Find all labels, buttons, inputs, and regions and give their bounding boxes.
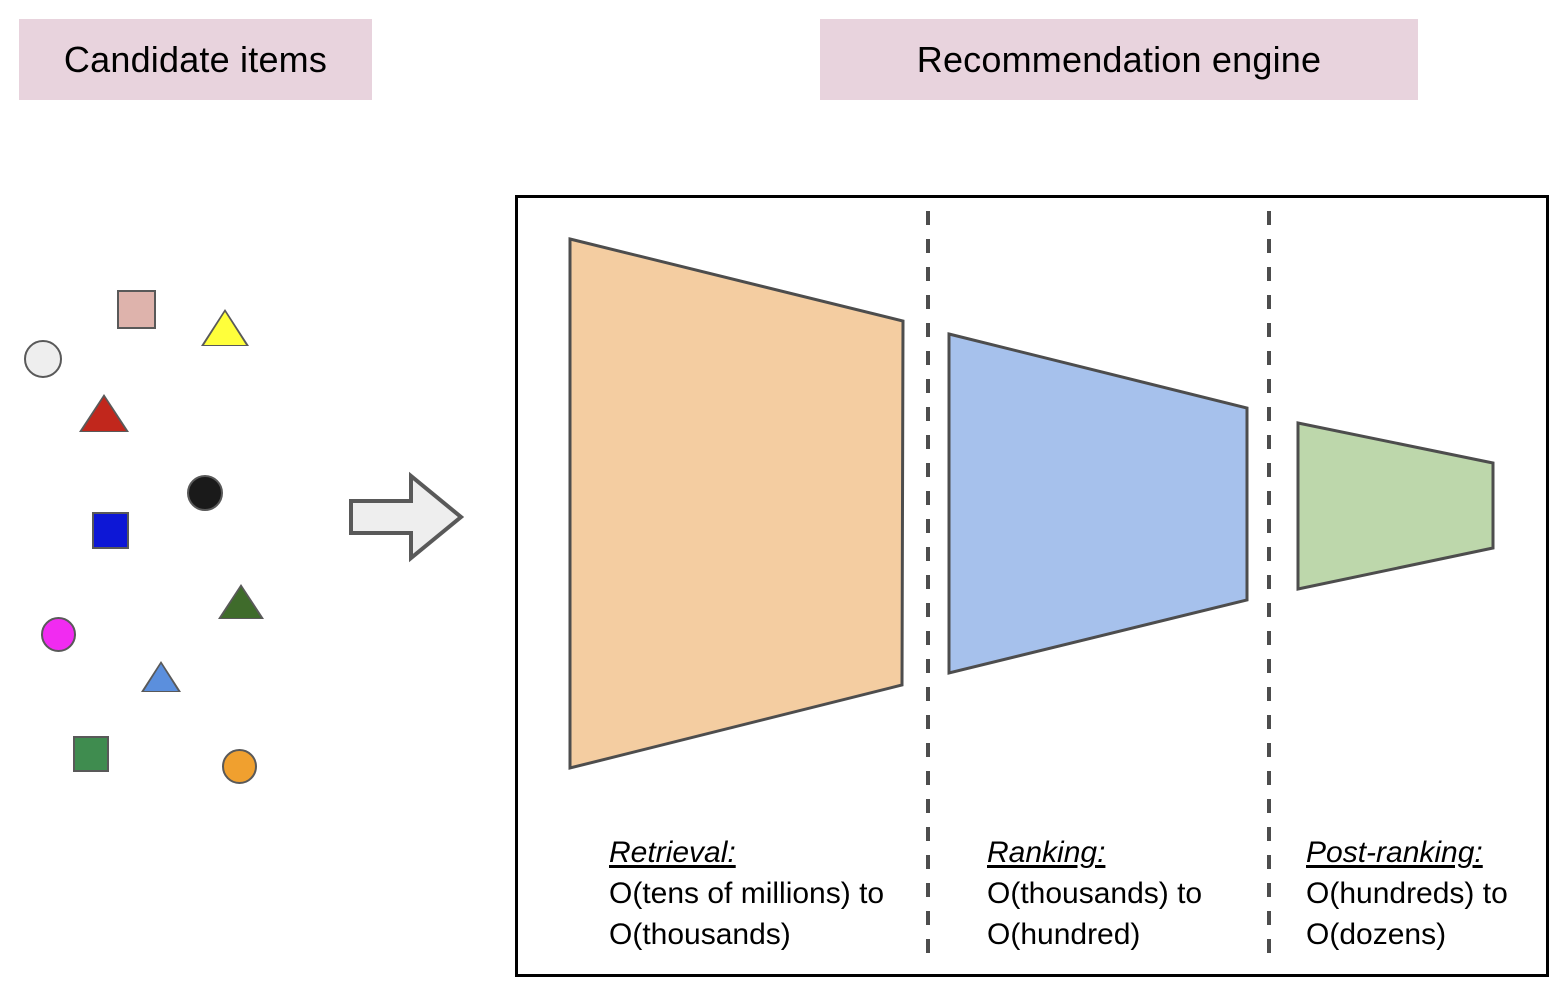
candidate-items-banner-label: Candidate items xyxy=(64,42,327,78)
retrieval-stage-line1: O(tens of millions) to xyxy=(609,873,884,914)
retrieval-stage-caption: Retrieval: O(tens of millions) to O(thou… xyxy=(609,832,884,955)
recommendation-engine-banner-label: Recommendation engine xyxy=(917,42,1321,78)
post-ranking-stage-line1: O(hundreds) to xyxy=(1306,873,1508,914)
red-triangle xyxy=(82,397,126,431)
candidate-items-scatter xyxy=(0,240,330,820)
post-ranking-funnel-shape xyxy=(1298,423,1493,589)
dark-green-triangle xyxy=(221,587,261,618)
ranking-stage-line2: O(hundred) xyxy=(987,914,1202,955)
post-ranking-stage-line2: O(dozens) xyxy=(1306,914,1508,955)
light-blue-triangle xyxy=(144,664,178,691)
yellow-triangle xyxy=(204,312,246,345)
orange-circle xyxy=(222,749,257,784)
ranking-funnel-shape xyxy=(949,334,1247,673)
magenta-circle xyxy=(41,617,76,652)
flow-arrow-icon xyxy=(348,470,464,564)
retrieval-stage-line2: O(thousands) xyxy=(609,914,884,955)
blue-square xyxy=(92,512,129,549)
candidate-items-banner: Candidate items xyxy=(19,19,372,100)
white-circle xyxy=(24,340,62,378)
pink-square xyxy=(117,290,156,329)
ranking-stage-title: Ranking: xyxy=(987,832,1202,873)
post-ranking-stage-caption: Post-ranking: O(hundreds) to O(dozens) xyxy=(1306,832,1508,955)
retrieval-stage-title: Retrieval: xyxy=(609,832,884,873)
recommendation-engine-banner: Recommendation engine xyxy=(820,19,1418,100)
black-circle xyxy=(187,475,223,511)
ranking-stage-line1: O(thousands) to xyxy=(987,873,1202,914)
green-square xyxy=(73,736,109,772)
retrieval-funnel-shape xyxy=(570,239,903,768)
ranking-stage-caption: Ranking: O(thousands) to O(hundred) xyxy=(987,832,1202,955)
post-ranking-stage-title: Post-ranking: xyxy=(1306,832,1508,873)
